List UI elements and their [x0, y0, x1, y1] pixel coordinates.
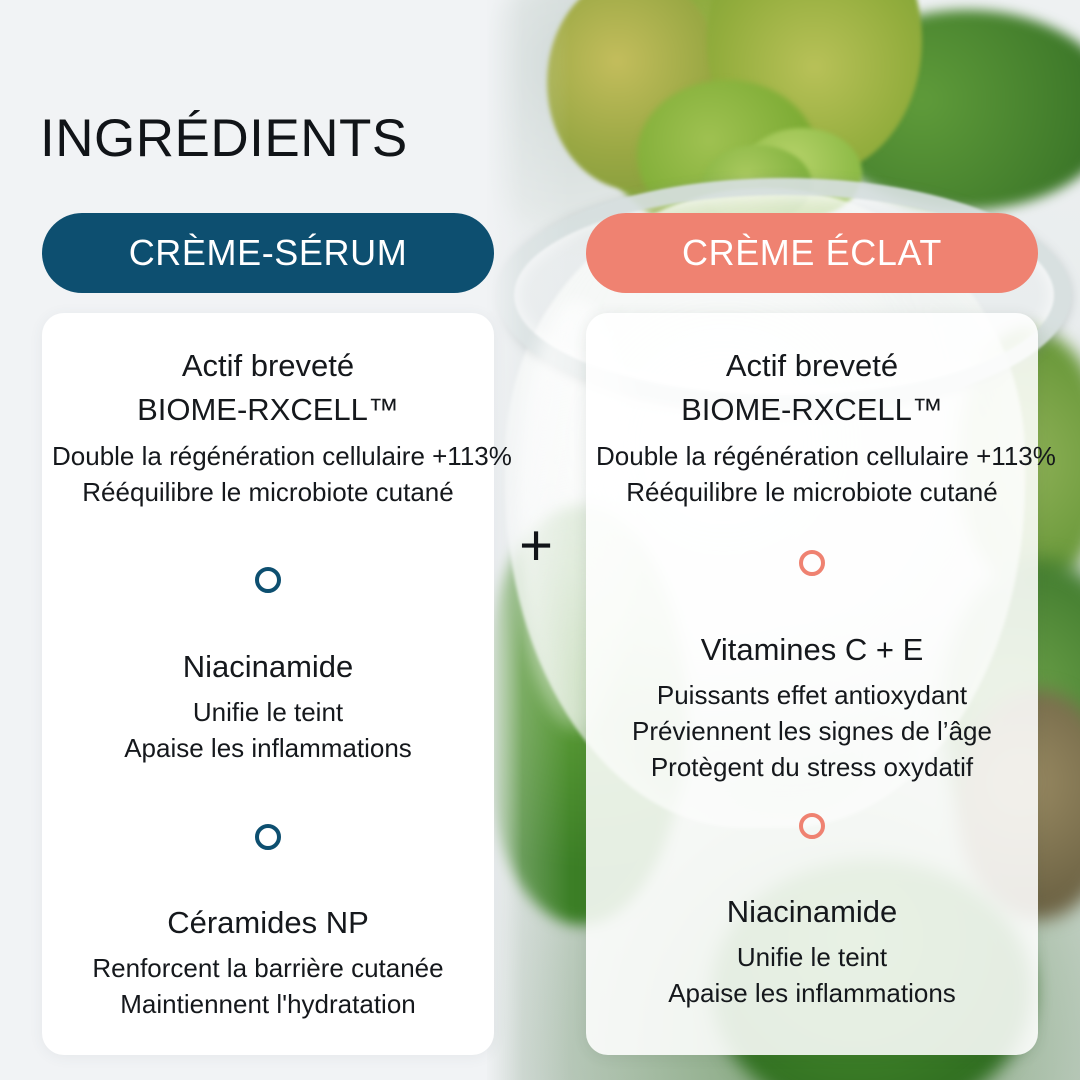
ingredient-block: Niacinamide Unifie le teint Apaise les i… [586, 891, 1038, 1011]
ingredient-benefit: Renforcent la barrière cutanée [52, 950, 484, 986]
ingredient-card-creme-eclat: Actif breveté BIOME-RXCELL™ Double la ré… [586, 313, 1038, 1055]
ring-bullet-icon [255, 567, 281, 593]
ingredient-name: Actif breveté [596, 344, 1028, 388]
tab-creme-serum-label: CRÈME-SÉRUM [129, 232, 408, 274]
ingredient-name: Céramides NP [52, 902, 484, 944]
infographic-canvas: INGRÉDIENTS CRÈME-SÉRUM CRÈME ÉCLAT Acti… [0, 0, 1080, 1080]
tab-creme-eclat-label: CRÈME ÉCLAT [682, 232, 942, 274]
ingredient-benefit: Double la régénération cellulaire +113% [596, 438, 1028, 474]
section-separator [42, 824, 494, 850]
ingredient-name: BIOME-RXCELL™ [596, 388, 1028, 432]
ingredient-block: Vitamines C + E Puissants effet antioxyd… [586, 629, 1038, 785]
section-separator [586, 813, 1038, 839]
ingredient-block: Céramides NP Renforcent la barrière cuta… [42, 902, 494, 1022]
ingredient-benefit: Préviennent les signes de l’âge [596, 713, 1028, 749]
ingredient-benefit: Apaise les inflammations [596, 975, 1028, 1011]
ingredient-benefit: Rééquilibre le microbiote cutané [52, 474, 484, 510]
ingredient-name: Niacinamide [596, 891, 1028, 933]
ingredient-benefit: Maintiennent l'hydratation [52, 986, 484, 1022]
ingredient-benefit: Protègent du stress oxydatif [596, 749, 1028, 785]
ingredient-name: Niacinamide [52, 646, 484, 688]
tab-creme-eclat[interactable]: CRÈME ÉCLAT [586, 213, 1038, 293]
ingredient-block: Actif breveté BIOME-RXCELL™ Double la ré… [586, 344, 1038, 510]
ring-bullet-icon [799, 550, 825, 576]
ring-bullet-icon [799, 813, 825, 839]
ingredient-benefit: Unifie le teint [52, 694, 484, 730]
ingredient-block: Actif breveté BIOME-RXCELL™ Double la ré… [42, 344, 494, 510]
page-title: INGRÉDIENTS [40, 108, 408, 169]
ingredient-benefit: Unifie le teint [596, 939, 1028, 975]
plus-icon: + [512, 522, 560, 570]
ingredient-benefit: Apaise les inflammations [52, 730, 484, 766]
ingredient-name: Vitamines C + E [596, 629, 1028, 671]
section-separator [586, 550, 1038, 576]
ingredient-name: Actif breveté [52, 344, 484, 388]
ingredient-benefit: Rééquilibre le microbiote cutané [596, 474, 1028, 510]
ingredient-benefit: Double la régénération cellulaire +113% [52, 438, 484, 474]
ingredient-benefit: Puissants effet antioxydant [596, 677, 1028, 713]
ingredient-name: BIOME-RXCELL™ [52, 388, 484, 432]
tab-creme-serum[interactable]: CRÈME-SÉRUM [42, 213, 494, 293]
section-separator [42, 567, 494, 593]
ingredient-card-creme-serum: Actif breveté BIOME-RXCELL™ Double la ré… [42, 313, 494, 1055]
ring-bullet-icon [255, 824, 281, 850]
ingredient-block: Niacinamide Unifie le teint Apaise les i… [42, 646, 494, 766]
